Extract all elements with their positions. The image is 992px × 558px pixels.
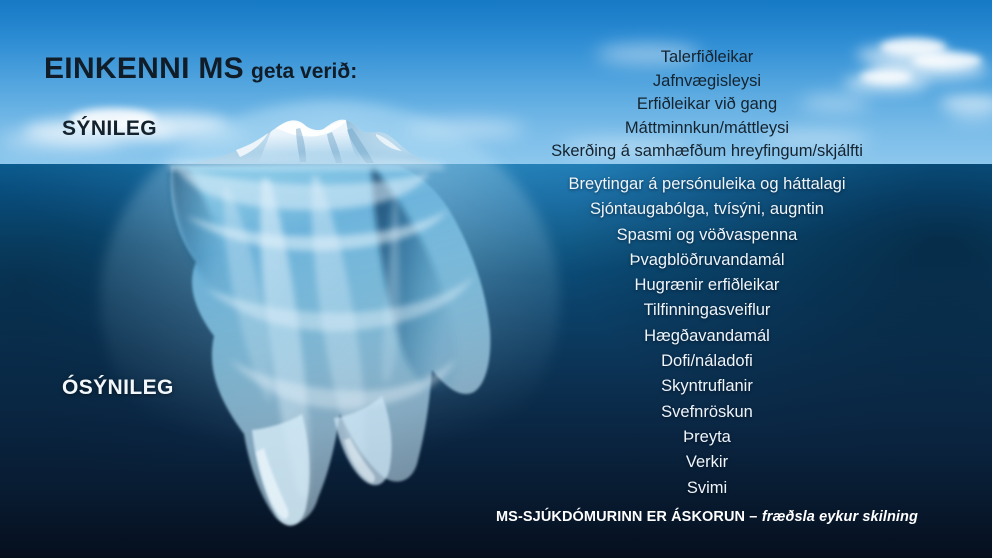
symptom-item: Dofi/náladofi (492, 349, 922, 374)
symptom-item: Hægðavandamál (492, 324, 922, 349)
symptom-item: Máttminnkun/máttleysi (492, 117, 922, 141)
symptom-item: Skyntruflanir (492, 374, 922, 399)
footer-bold-text: MS-SJÚKDÓMURINN ER ÁSKORUN – (496, 509, 757, 525)
symptom-item: Svimi (492, 476, 922, 501)
page-title: EINKENNI MSgeta verið: (44, 52, 357, 86)
symptom-item: Tilfinningasveiflur (492, 298, 922, 323)
label-invisible: ÓSÝNILEG (62, 376, 174, 400)
footer-caption: MS-SJÚKDÓMURINN ER ÁSKORUN – fræðsla eyk… (492, 508, 922, 526)
symptom-item: Þreyta (492, 425, 922, 450)
title-sub: geta verið: (251, 60, 357, 83)
cloud-shape (948, 108, 992, 120)
symptom-item: Sjóntaugabólga, tvísýni, augntin (492, 197, 922, 222)
cloud-shape (152, 126, 248, 142)
symptom-item: Breytingar á persónuleika og háttalagi (492, 172, 922, 197)
slide-canvas: EINKENNI MSgeta verið: SÝNILEG ÓSÝNILEG … (0, 0, 992, 558)
symptom-item: Verkir (492, 450, 922, 475)
symptom-item: Jafnvægisleysi (492, 70, 922, 94)
footer-italic-text: fræðsla eykur skilning (762, 509, 918, 525)
invisible-symptoms-list: Breytingar á persónuleika og háttalagiSj… (492, 172, 922, 501)
symptom-item: Svefnröskun (492, 400, 922, 425)
cloud-shape (912, 52, 982, 69)
symptom-item: Erfiðleikar við gang (492, 93, 922, 117)
title-main: EINKENNI MS (44, 52, 244, 85)
symptom-item: Þvagblöðruvandamál (492, 248, 922, 273)
symptom-item: Skerðing á samhæfðum hreyfingum/skjálfti (492, 140, 922, 164)
visible-symptoms-list: TalerfiðleikarJafnvægisleysiErfiðleikar … (492, 46, 922, 164)
symptom-item: Talerfiðleikar (492, 46, 922, 70)
label-visible: SÝNILEG (62, 117, 157, 141)
symptom-item: Spasmi og vöðvaspenna (492, 223, 922, 248)
symptom-item: Hugrænir erfiðleikar (492, 273, 922, 298)
